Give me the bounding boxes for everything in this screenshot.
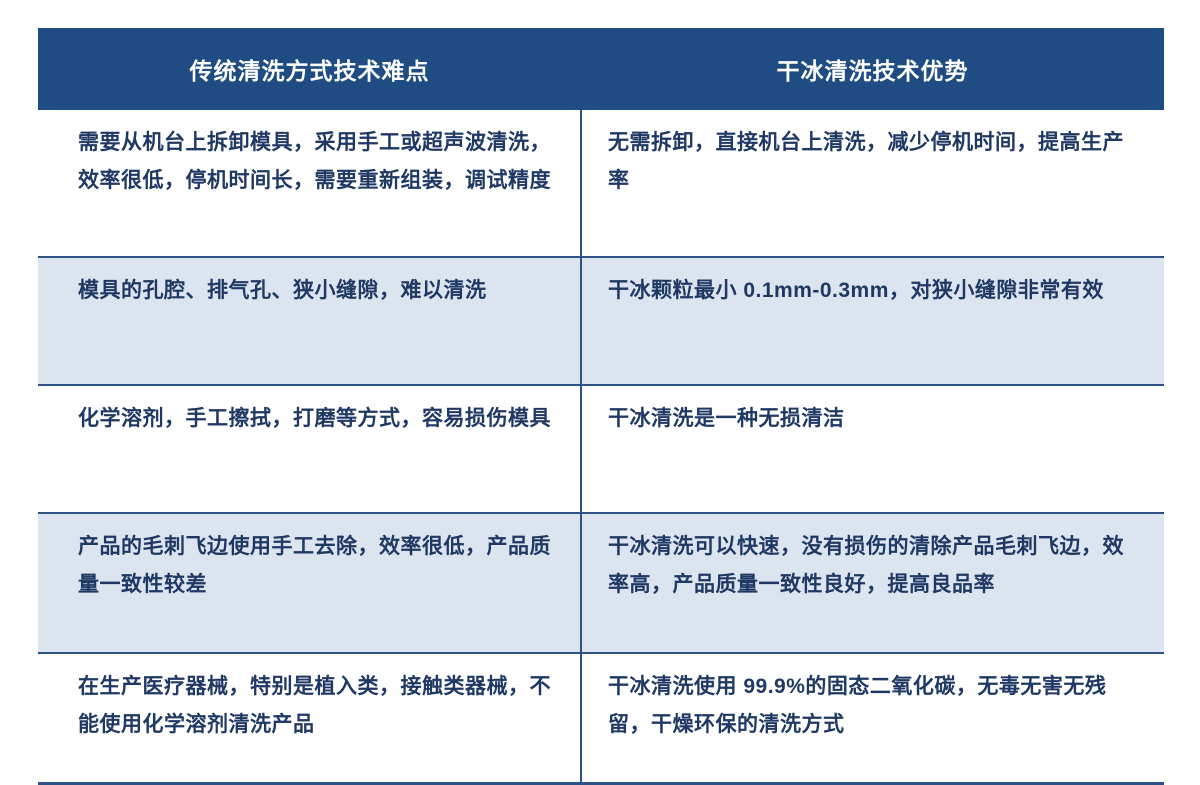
table-cell-traditional: 产品的毛刺飞边使用手工去除，效率很低，产品质量一致性较差 — [38, 513, 581, 653]
table-cell-dryice: 干冰颗粒最小 0.1mm-0.3mm，对狭小缝隙非常有效 — [581, 257, 1164, 385]
cell-text: 在生产医疗器械，特别是植入类，接触类器械，不能使用化学溶剂清洗产品 — [78, 668, 554, 744]
table-cell-dryice: 干冰清洗使用 99.9%的固态二氧化碳，无毒无害无残留，干燥环保的清洗方式 — [581, 653, 1164, 784]
table-row: 在生产医疗器械，特别是植入类，接触类器械，不能使用化学溶剂清洗产品 干冰清洗使用… — [38, 653, 1164, 784]
table-cell-dryice: 干冰清洗可以快速，没有损伤的清除产品毛刺飞边，效率高，产品质量一致性良好，提高良… — [581, 513, 1164, 653]
cell-text: 产品的毛刺飞边使用手工去除，效率很低，产品质量一致性较差 — [78, 528, 554, 604]
column-header-traditional-cleaning-difficulties: 传统清洗方式技术难点 — [38, 28, 581, 110]
table-cell-traditional: 模具的孔腔、排气孔、狭小缝隙，难以清洗 — [38, 257, 581, 385]
cell-text: 干冰清洗可以快速，没有损伤的清除产品毛刺飞边，效率高，产品质量一致性良好，提高良… — [608, 528, 1130, 604]
cell-text: 需要从机台上拆卸模具，采用手工或超声波清洗，效率很低，停机时间长，需要重新组装，… — [78, 124, 554, 200]
table-cell-traditional: 在生产医疗器械，特别是植入类，接触类器械，不能使用化学溶剂清洗产品 — [38, 653, 581, 784]
table-cell-dryice: 无需拆卸，直接机台上清洗，减少停机时间，提高生产率 — [581, 110, 1164, 257]
table-body: 需要从机台上拆卸模具，采用手工或超声波清洗，效率很低，停机时间长，需要重新组装，… — [38, 110, 1164, 784]
table-cell-dryice: 干冰清洗是一种无损清洁 — [581, 385, 1164, 513]
table-row: 化学溶剂，手工擦拭，打磨等方式，容易损伤模具 干冰清洗是一种无损清洁 — [38, 385, 1164, 513]
table-cell-traditional: 需要从机台上拆卸模具，采用手工或超声波清洗，效率很低，停机时间长，需要重新组装，… — [38, 110, 581, 257]
comparison-table-container: 传统清洗方式技术难点 干冰清洗技术优势 需要从机台上拆卸模具，采用手工或超声波清… — [38, 28, 1164, 785]
table-cell-traditional: 化学溶剂，手工擦拭，打磨等方式，容易损伤模具 — [38, 385, 581, 513]
column-header-dry-ice-cleaning-advantages: 干冰清洗技术优势 — [581, 28, 1164, 110]
cell-text: 模具的孔腔、排气孔、狭小缝隙，难以清洗 — [78, 272, 554, 310]
comparison-table: 传统清洗方式技术难点 干冰清洗技术优势 需要从机台上拆卸模具，采用手工或超声波清… — [38, 28, 1164, 785]
table-header-row: 传统清洗方式技术难点 干冰清洗技术优势 — [38, 28, 1164, 110]
cell-text: 干冰清洗使用 99.9%的固态二氧化碳，无毒无害无残留，干燥环保的清洗方式 — [608, 668, 1130, 744]
cell-text: 干冰颗粒最小 0.1mm-0.3mm，对狭小缝隙非常有效 — [608, 272, 1130, 310]
table-row: 产品的毛刺飞边使用手工去除，效率很低，产品质量一致性较差 干冰清洗可以快速，没有… — [38, 513, 1164, 653]
cell-text: 化学溶剂，手工擦拭，打磨等方式，容易损伤模具 — [78, 400, 554, 438]
table-row: 需要从机台上拆卸模具，采用手工或超声波清洗，效率很低，停机时间长，需要重新组装，… — [38, 110, 1164, 257]
cell-text: 干冰清洗是一种无损清洁 — [608, 400, 1130, 438]
cell-text: 无需拆卸，直接机台上清洗，减少停机时间，提高生产率 — [608, 124, 1130, 200]
table-header: 传统清洗方式技术难点 干冰清洗技术优势 — [38, 28, 1164, 110]
table-row: 模具的孔腔、排气孔、狭小缝隙，难以清洗 干冰颗粒最小 0.1mm-0.3mm，对… — [38, 257, 1164, 385]
